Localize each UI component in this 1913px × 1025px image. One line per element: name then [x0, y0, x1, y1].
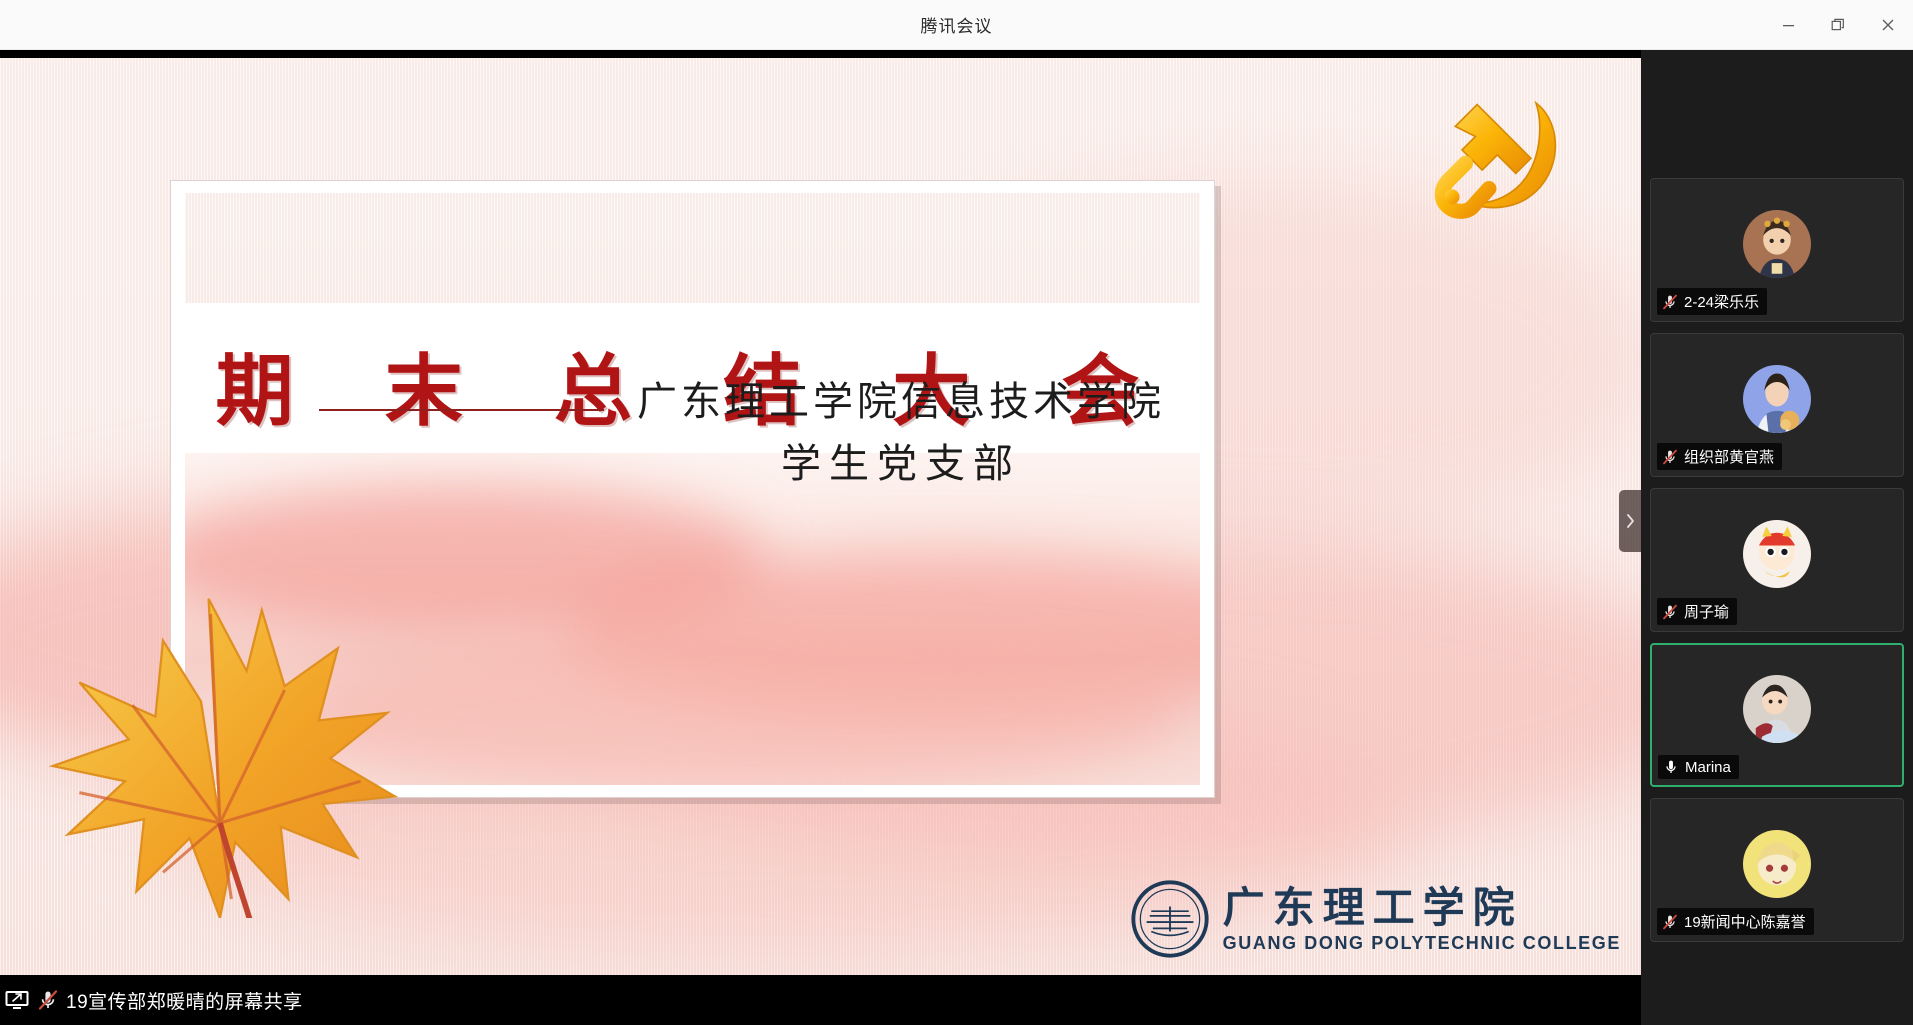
minimize-button[interactable] — [1763, 0, 1813, 50]
screen-share-status-text: 19宣传部郑暖晴的屏幕共享 — [66, 987, 303, 1014]
avatar-image — [1743, 830, 1811, 898]
participant-filmstrip[interactable]: 2-24梁乐乐 组织部黄官燕 周子瑜 — [1641, 50, 1913, 1025]
maximize-button[interactable] — [1813, 0, 1863, 50]
mic-muted-icon — [36, 988, 60, 1012]
college-names: 广东理工学院 GUANG DONG POLYTECHNIC COLLEGE — [1223, 884, 1621, 954]
participant-tile[interactable]: 周子瑜 — [1650, 488, 1904, 632]
participant-name-badge: 周子瑜 — [1657, 598, 1737, 625]
mic-muted-icon — [1661, 293, 1679, 311]
slide-subtitle-rule — [319, 409, 604, 411]
close-icon — [1881, 18, 1895, 32]
college-name-en: GUANG DONG POLYTECHNIC COLLEGE — [1223, 932, 1621, 954]
participant-tile[interactable]: 19新闻中心陈嘉誉 — [1650, 798, 1904, 942]
mic-muted-icon — [1661, 603, 1679, 621]
participant-tile[interactable]: Marina — [1650, 643, 1904, 787]
avatar — [1743, 520, 1811, 588]
participant-name-badge: 组织部黄官燕 — [1657, 443, 1782, 470]
slide-subtitle: 广东理工学院信息技术学院 学生党支部 — [601, 371, 1201, 495]
avatar — [1743, 210, 1811, 278]
maple-leaf-icon — [30, 538, 410, 918]
participant-tile[interactable]: 组织部黄官燕 — [1650, 333, 1904, 477]
avatar-image — [1743, 675, 1811, 743]
participant-name-badge: Marina — [1658, 755, 1739, 779]
maximize-icon — [1831, 18, 1845, 32]
college-logo: 广东理工学院 GUANG DONG POLYTECHNIC COLLEGE — [1131, 880, 1621, 958]
mic-icon — [1662, 758, 1680, 776]
participant-name: 周子瑜 — [1684, 601, 1729, 622]
window-controls — [1763, 0, 1913, 50]
slide-subtitle-line2: 学生党支部 — [601, 433, 1201, 495]
participant-tile[interactable]: 2-24梁乐乐 — [1650, 178, 1904, 322]
chevron-right-icon — [1625, 513, 1636, 529]
participant-name-badge: 2-24梁乐乐 — [1657, 288, 1767, 315]
meeting-window-body: 期 末 总 结 大 会 广东理工学院信息技术学院 学生党支部 — [0, 50, 1913, 1025]
app-title: 腾讯会议 — [921, 12, 993, 37]
slide-subtitle-line1: 广东理工学院信息技术学院 — [601, 371, 1201, 433]
minimize-icon — [1782, 19, 1795, 32]
avatar — [1743, 675, 1811, 743]
avatar-image — [1743, 365, 1811, 433]
close-button[interactable] — [1863, 0, 1913, 50]
screen-share-icon — [4, 989, 30, 1011]
filmstrip-collapse-toggle[interactable] — [1619, 490, 1641, 552]
shared-screen-stage: 期 末 总 结 大 会 广东理工学院信息技术学院 学生党支部 — [0, 50, 1641, 1025]
participant-name: 组织部黄官燕 — [1684, 446, 1774, 467]
avatar-image — [1743, 520, 1811, 588]
participant-name: 2-24梁乐乐 — [1684, 291, 1759, 312]
screen-share-status-bar: 19宣传部郑暖晴的屏幕共享 — [0, 975, 1641, 1025]
shared-screen-content: 期 末 总 结 大 会 广东理工学院信息技术学院 学生党支部 — [0, 50, 1641, 975]
window-title-bar: 腾讯会议 — [0, 0, 1913, 50]
participant-tile-list: 2-24梁乐乐 组织部黄官燕 周子瑜 — [1650, 178, 1904, 942]
party-emblem-icon — [1415, 76, 1583, 244]
participant-name-badge: 19新闻中心陈嘉誉 — [1657, 908, 1814, 935]
college-seal-icon — [1131, 880, 1209, 958]
avatar — [1743, 830, 1811, 898]
participant-name: Marina — [1685, 759, 1731, 776]
avatar — [1743, 365, 1811, 433]
mic-muted-icon — [1661, 448, 1679, 466]
college-name-cn: 广东理工学院 — [1223, 884, 1621, 932]
mic-muted-icon — [1661, 913, 1679, 931]
slide-card-top-band — [185, 193, 1200, 303]
filmstrip-top-spacer — [1650, 58, 1904, 178]
avatar-image — [1743, 210, 1811, 278]
presentation-slide: 期 末 总 结 大 会 广东理工学院信息技术学院 学生党支部 — [0, 58, 1641, 975]
slide-card-wash — [285, 633, 1185, 785]
participant-name: 19新闻中心陈嘉誉 — [1684, 911, 1806, 932]
